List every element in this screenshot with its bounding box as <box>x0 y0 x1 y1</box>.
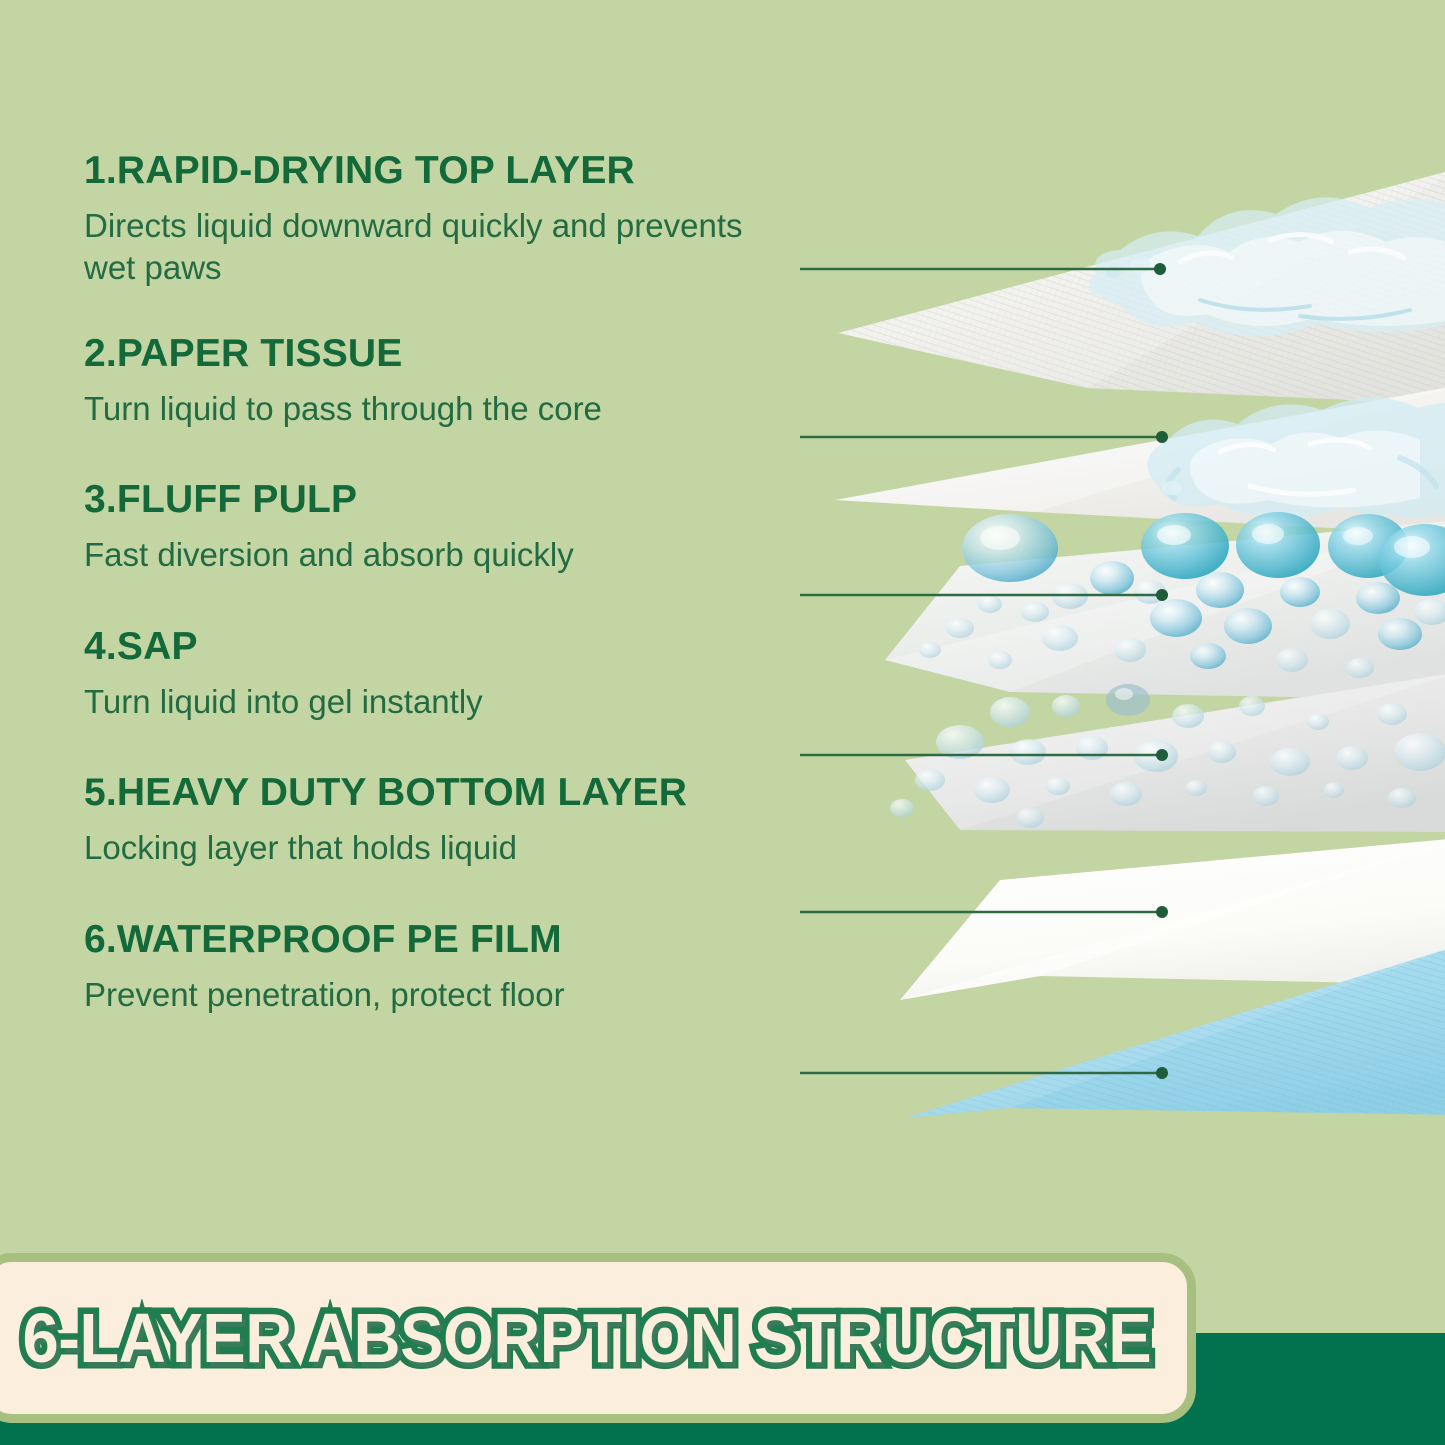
infographic-canvas: 1.RAPID-DRYING TOP LAYER Directs liquid … <box>0 0 1445 1445</box>
layer-entry-6: 6.WATERPROOF PE FILM Prevent penetration… <box>84 919 784 1016</box>
water-splash-2 <box>1147 397 1445 518</box>
bottom-banner: 6-LAYER ABSORPTION STRUCTURE <box>0 1253 1196 1423</box>
layer-sheet-4 <box>890 672 1445 832</box>
layer-title-6: 6.WATERPROOF PE FILM <box>84 919 784 961</box>
layer-sheet-1 <box>838 168 1445 405</box>
layer-entry-1: 1.RAPID-DRYING TOP LAYER Directs liquid … <box>84 150 784 288</box>
layer-desc-1: Directs liquid downward quickly and prev… <box>84 205 764 288</box>
layer-sheet-2 <box>835 385 1445 535</box>
layer-list: 1.RAPID-DRYING TOP LAYER Directs liquid … <box>84 150 784 1016</box>
layer-title-1: 1.RAPID-DRYING TOP LAYER <box>84 150 784 192</box>
layer-entry-4: 4.SAP Turn liquid into gel instantly <box>84 626 784 723</box>
layer-title-5: 5.HEAVY DUTY BOTTOM LAYER <box>84 772 784 814</box>
water-splash-1 <box>1089 197 1445 336</box>
layer-title-4: 4.SAP <box>84 626 784 668</box>
layer-desc-4: Turn liquid into gel instantly <box>84 681 764 723</box>
layer-entry-2: 2.PAPER TISSUE Turn liquid to pass throu… <box>84 333 784 430</box>
layer-title-3: 3.FLUFF PULP <box>84 479 784 521</box>
layer-desc-3: Fast diversion and absorb quickly <box>84 534 764 576</box>
banner-title: 6-LAYER ABSORPTION STRUCTURE <box>23 1298 1152 1378</box>
layer-entry-5: 5.HEAVY DUTY BOTTOM LAYER Locking layer … <box>84 772 784 869</box>
layer-desc-6: Prevent penetration, protect floor <box>84 974 764 1016</box>
layer-title-2: 2.PAPER TISSUE <box>84 333 784 375</box>
layer-sheet-3 <box>885 512 1445 700</box>
layer-desc-2: Turn liquid to pass through the core <box>84 388 764 430</box>
layer-desc-5: Locking layer that holds liquid <box>84 827 764 869</box>
layer-entry-3: 3.FLUFF PULP Fast diversion and absorb q… <box>84 479 784 576</box>
